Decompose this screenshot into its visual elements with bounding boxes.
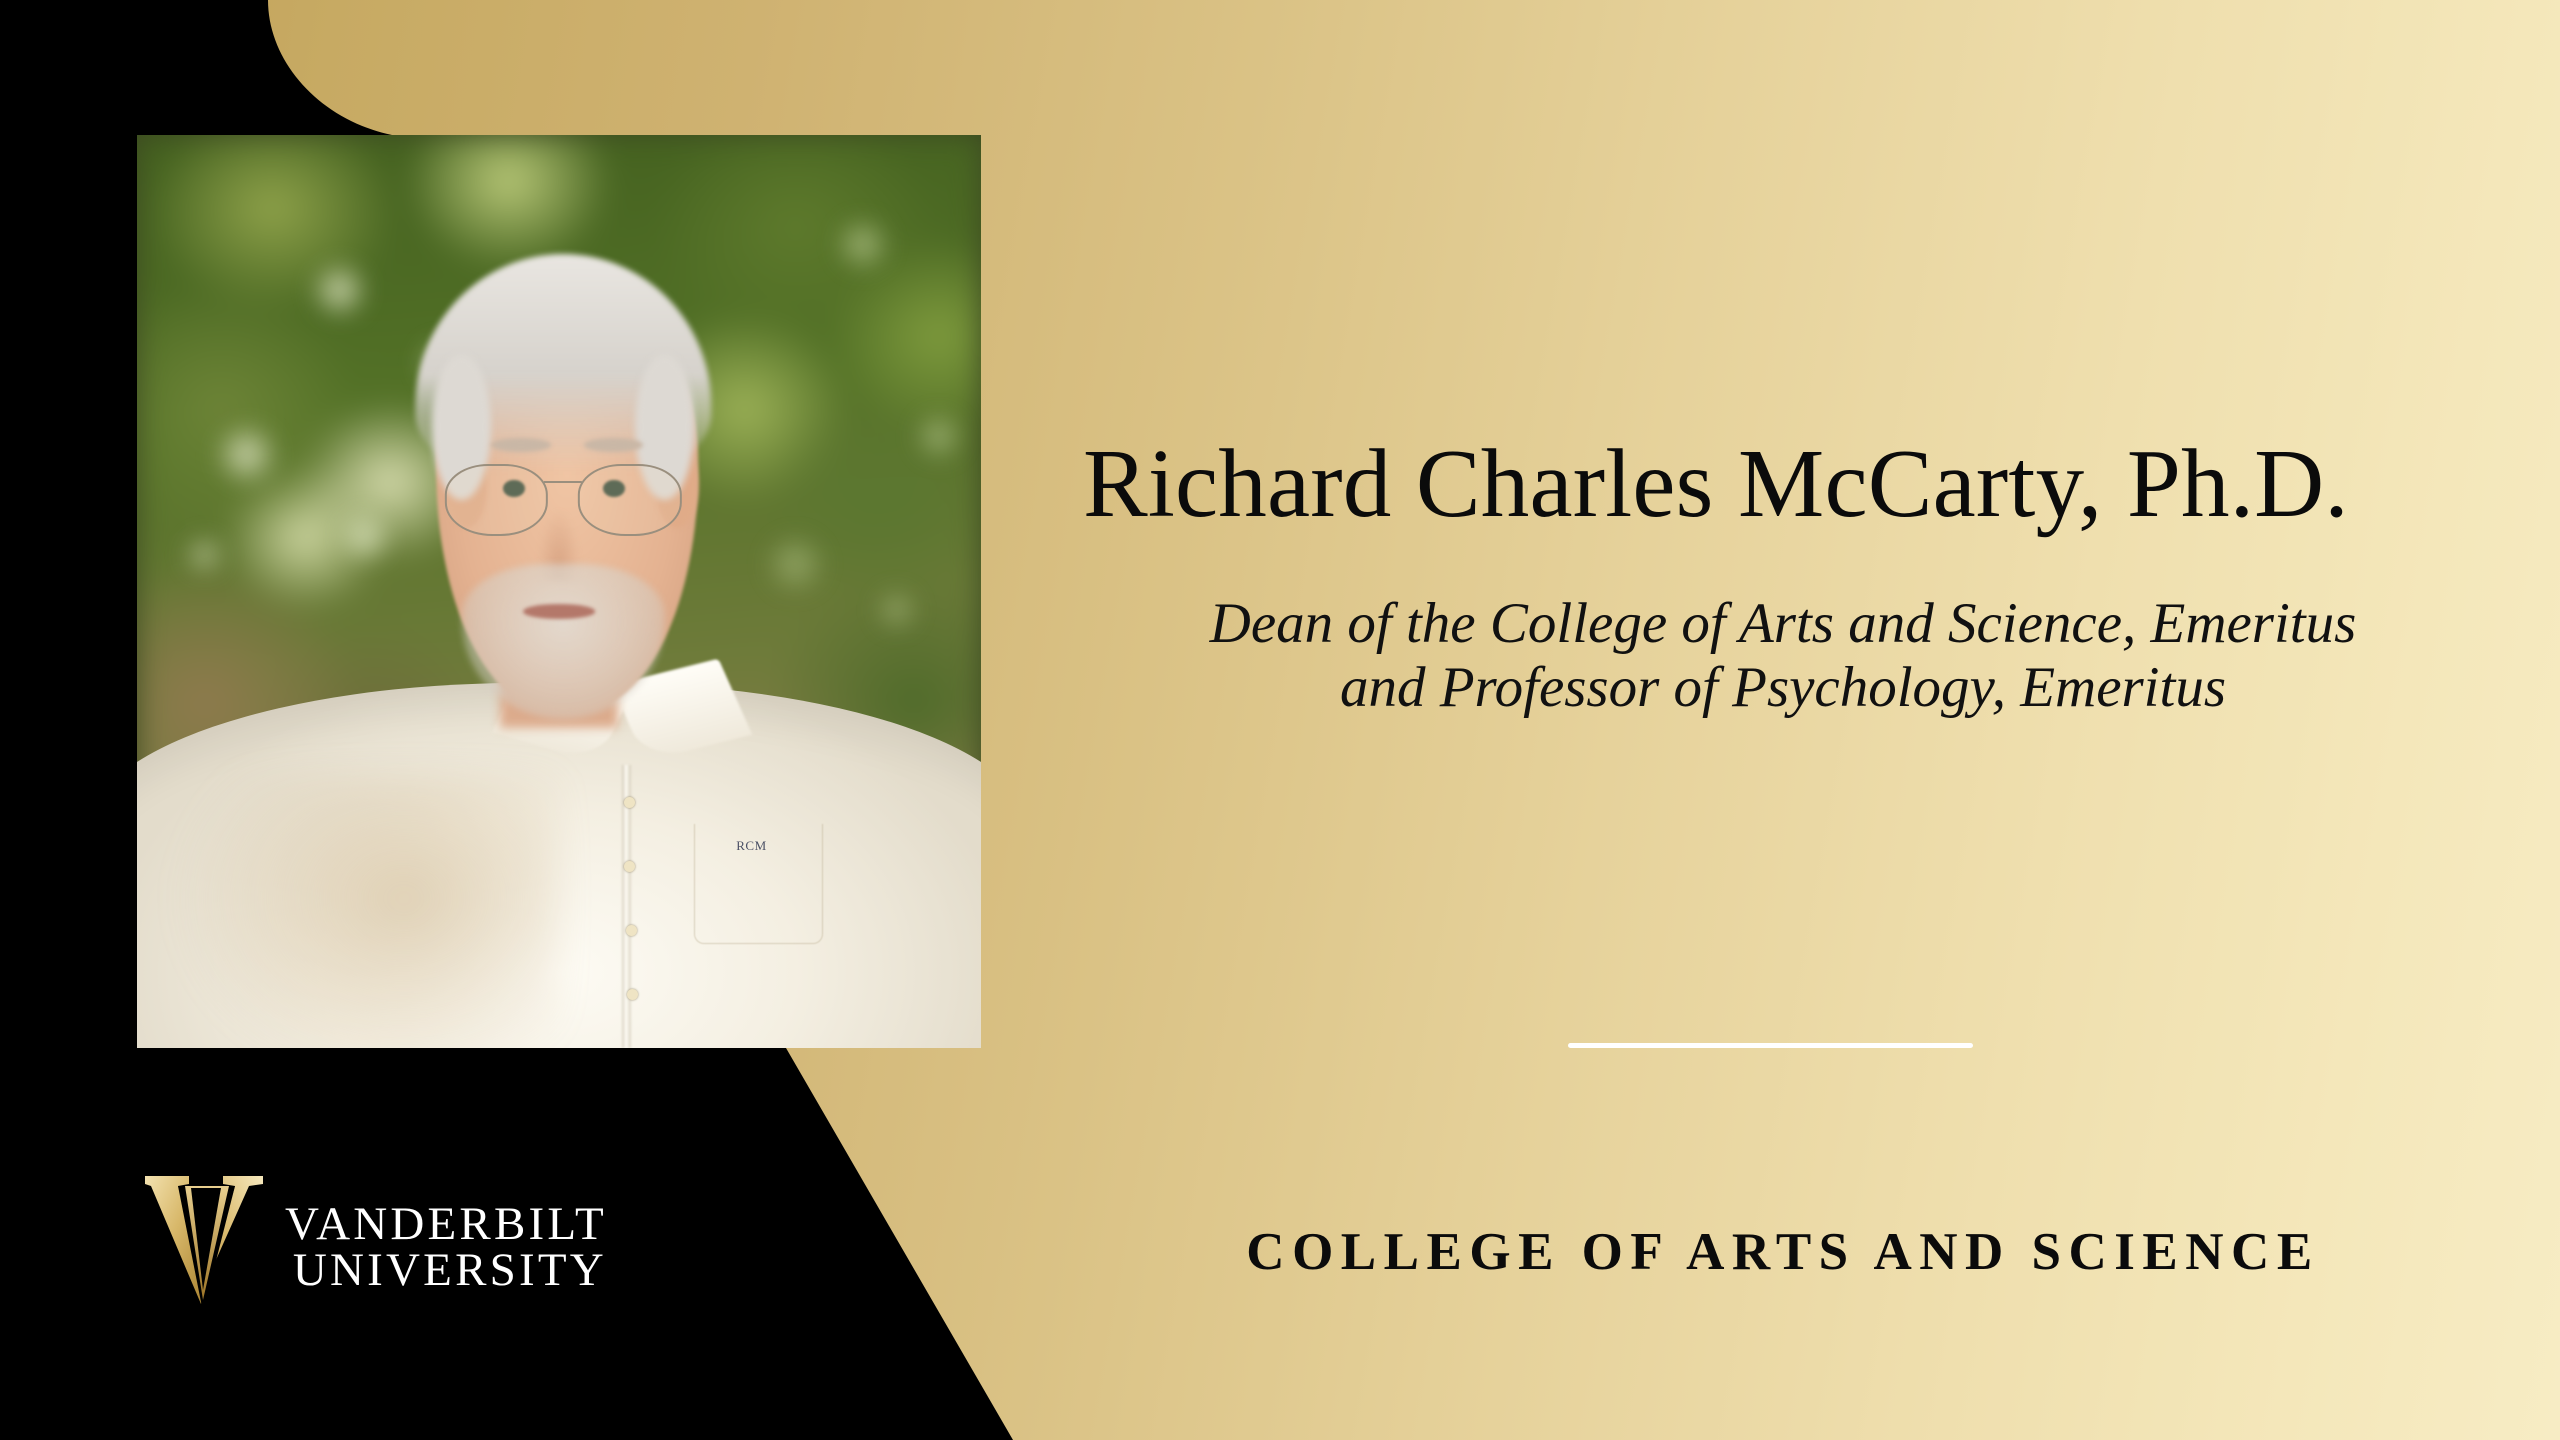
logo-line-university: UNIVERSITY [285,1247,607,1293]
photo-shirt-button [624,861,635,872]
photo-eyebrow-left [491,438,550,452]
photo-mouth [523,604,595,619]
photo-shirt-monogram: RCM [736,838,766,854]
photo-lens-right [578,464,681,536]
person-title: Dean of the College of Arts and Science,… [1083,592,2483,720]
person-title-line-2: and Professor of Psychology, Emeritus [1083,656,2483,720]
person-title-line-1: Dean of the College of Arts and Science,… [1083,592,2483,656]
vanderbilt-v-icon [145,1172,263,1322]
vanderbilt-logo-lockup: VANDERBILT UNIVERSITY [145,1172,607,1322]
person-name: Richard Charles McCarty, Ph.D. [1083,433,2483,536]
photo-eyebrow-right [584,438,643,452]
vanderbilt-wordmark: VANDERBILT UNIVERSITY [285,1201,607,1293]
college-label: COLLEGE OF ARTS AND SCIENCE [1083,1222,2483,1282]
horizontal-divider [1568,1043,1973,1048]
photo-shirt-button [626,925,637,936]
photo-glasses-bridge [544,481,582,483]
photo-shirt-button [624,797,635,808]
photo-lens-left [445,464,548,536]
logo-line-vanderbilt: VANDERBILT [285,1201,607,1247]
photo-shirt-shadow [171,774,559,1048]
portrait-photo: RCM [137,135,981,1048]
photo-shirt-button [627,989,638,1000]
slide-canvas: RCM Richard Charles McCarty, Ph.D. Dean … [0,0,2560,1440]
